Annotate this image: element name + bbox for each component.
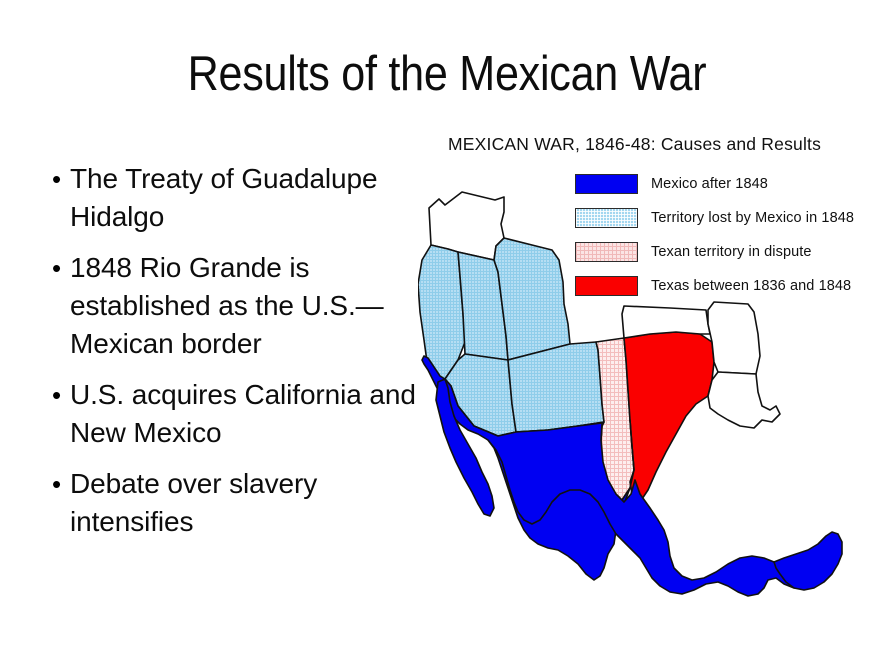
map-graphic <box>418 164 894 628</box>
list-item-label: U.S. acquires California and New Mexico <box>70 376 432 452</box>
list-item: • U.S. acquires California and New Mexic… <box>40 376 432 452</box>
region-new-mexico-territory <box>508 342 604 432</box>
bullet-marker-icon: • <box>40 376 70 414</box>
bullet-list: • The Treaty of Guadalupe Hidalgo • 1848… <box>40 160 432 554</box>
bullet-marker-icon: • <box>40 249 70 287</box>
region-texas-republic <box>624 332 714 502</box>
map-figure: MEXICAN WAR, 1846-48: Causes and Results… <box>418 128 894 628</box>
list-item: • 1848 Rio Grande is established as the … <box>40 249 432 363</box>
bullet-marker-icon: • <box>40 465 70 503</box>
list-item: • The Treaty of Guadalupe Hidalgo <box>40 160 432 236</box>
bullet-marker-icon: • <box>40 160 70 198</box>
region-indian-territory <box>622 306 710 338</box>
list-item-label: The Treaty of Guadalupe Hidalgo <box>70 160 432 236</box>
map-title: MEXICAN WAR, 1846-48: Causes and Results <box>448 134 894 154</box>
list-item: • Debate over slavery intensifies <box>40 465 432 541</box>
page-title: Results of the Mexican War <box>54 46 841 102</box>
list-item-label: Debate over slavery intensifies <box>70 465 432 541</box>
region-arkansas <box>708 302 760 374</box>
region-louisiana <box>708 372 780 428</box>
list-item-label: 1848 Rio Grande is established as the U.… <box>70 249 432 363</box>
